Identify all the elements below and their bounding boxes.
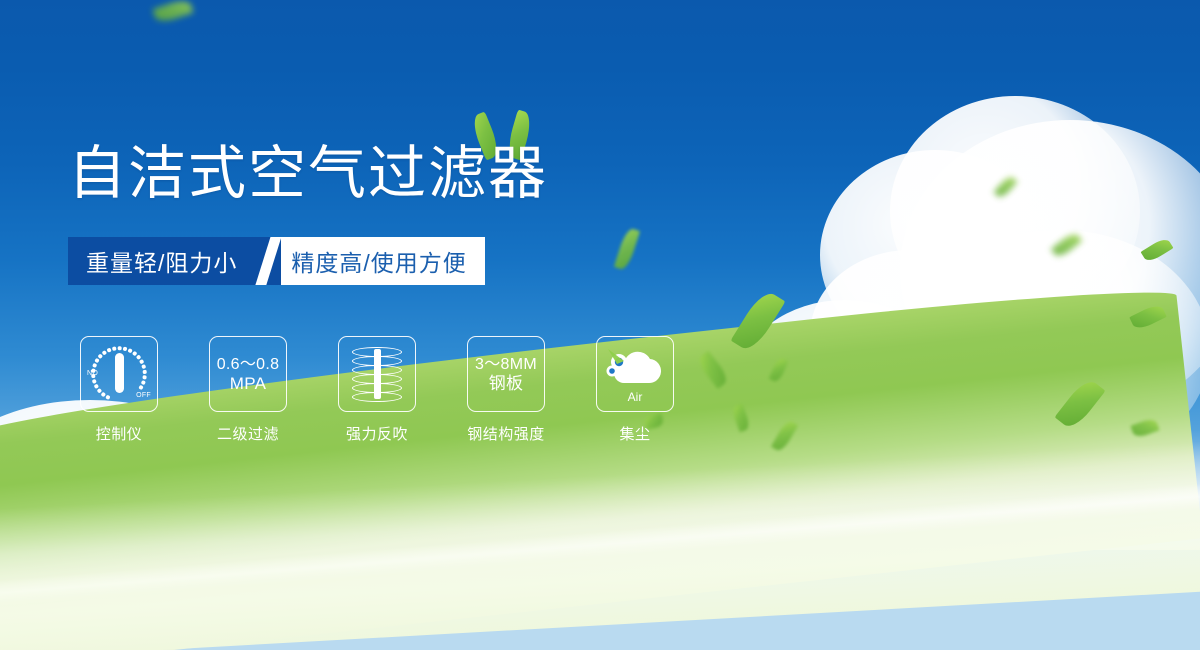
feature-box: NO OFF: [80, 336, 158, 412]
feature-label: 二级过滤: [209, 423, 287, 444]
feature-item-dust[interactable]: Air 集尘: [596, 336, 674, 444]
dial-label-no: NO: [87, 370, 98, 377]
filter-stack-icon: [352, 347, 402, 401]
air-label: Air: [604, 390, 666, 404]
dial-gauge-icon: NO OFF: [86, 343, 152, 405]
steel-text-icon: 3～8MM 钢板: [475, 355, 537, 393]
subtitle-right: 精度高/使用方便: [281, 237, 484, 285]
feature-label: 集尘: [596, 423, 674, 444]
feature-box: Air: [596, 336, 674, 412]
feature-list: NO OFF 控制仪 0.6～0.8 MPA 二级过滤: [80, 336, 674, 444]
pressure-unit: MPA: [217, 374, 280, 393]
feature-box: [338, 336, 416, 412]
leaf-icon: [152, 0, 193, 24]
dial-label-off: OFF: [136, 392, 151, 399]
feature-item-blowback[interactable]: 强力反吹: [338, 336, 416, 444]
feature-label: 强力反吹: [338, 423, 416, 444]
leaf-icon: [614, 227, 640, 271]
leaf-icon: [1051, 231, 1083, 260]
pressure-value: 0.6～0.8: [217, 355, 280, 374]
feature-label: 钢结构强度: [467, 423, 545, 444]
filter-stack-spine: [374, 349, 381, 399]
dial-needle: [115, 353, 124, 393]
feature-item-pressure[interactable]: 0.6～0.8 MPA 二级过滤: [209, 336, 287, 444]
subtitle-left: 重量轻/阻力小: [68, 237, 255, 285]
cloud-right-2: [890, 96, 1140, 326]
subtitle-bar: 重量轻/阻力小 精度高/使用方便: [68, 237, 485, 285]
leaf-icon: [993, 174, 1017, 199]
subtitle-separator: [255, 237, 281, 285]
steel-material: 钢板: [475, 374, 537, 393]
page-title: 自洁式空气过滤器: [68, 143, 548, 205]
pressure-text-icon: 0.6～0.8 MPA: [217, 355, 280, 393]
product-banner: 自洁式空气过滤器 重量轻/阻力小 精度高/使用方便: [0, 0, 1200, 650]
steel-thickness: 3～8MM: [475, 355, 537, 374]
cloud-air-icon: Air: [604, 345, 666, 403]
feature-box: 3～8MM 钢板: [467, 336, 545, 412]
leaf-icon: [1141, 236, 1174, 264]
cloud-shape-icon: [604, 345, 666, 391]
feature-box: 0.6～0.8 MPA: [209, 336, 287, 412]
feature-item-control[interactable]: NO OFF 控制仪: [80, 336, 158, 444]
feature-item-steel[interactable]: 3～8MM 钢板 钢结构强度: [467, 336, 545, 444]
feature-label: 控制仪: [80, 423, 158, 444]
